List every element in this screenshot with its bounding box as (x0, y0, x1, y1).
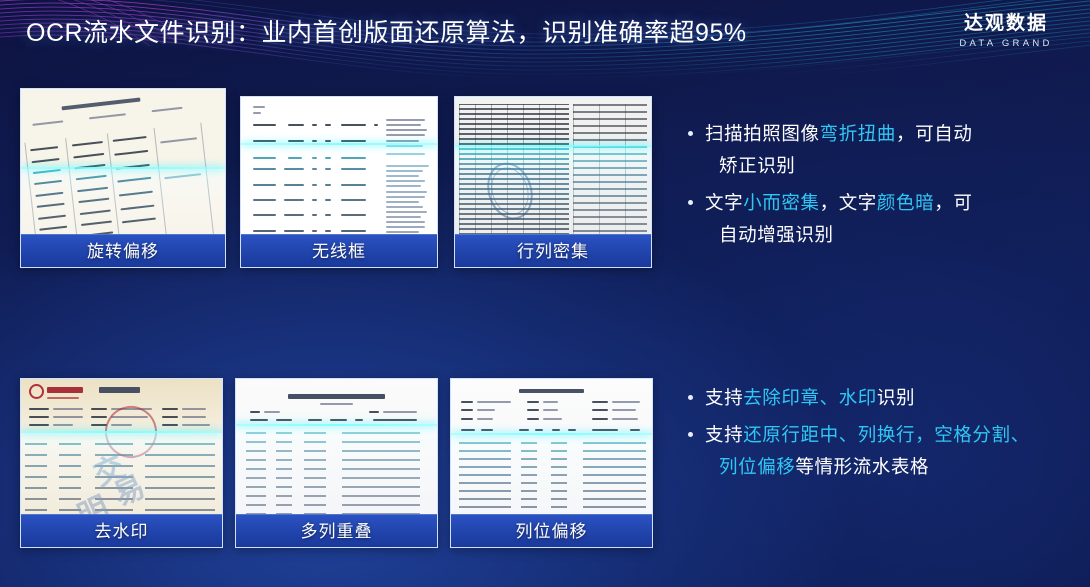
list-item: 文字小而密集，文字颜色暗，可 自动增强识别 (686, 187, 1066, 251)
bullet-line2: 列位偏移等情形流水表格 (705, 451, 1078, 483)
bullet-seg: 等情形流水表格 (795, 456, 929, 477)
list-item: 支持还原行距中、列换行，空格分割、 列位偏移等情形流水表格 (686, 419, 1078, 483)
slide-canvas: OCR流水文件识别：业内首创版面还原算法，识别准确率超95% 达观数据 DATA… (0, 0, 1090, 587)
sample-caption: 行列密集 (455, 234, 651, 267)
bullet-text: 扫描拍照图像弯折扭曲，可自动 矫正识别 (705, 118, 1066, 182)
bullet-seg: 文字 (705, 192, 743, 213)
bullet-seg: ，可自动 (896, 123, 972, 144)
sample-card-dense-rows[interactable]: 行列密集 (454, 96, 652, 268)
slide-header: OCR流水文件识别：业内首创版面还原算法，识别准确率超95% 达观数据 DATA… (0, 0, 1090, 68)
logo-chinese-name: 达观数据 (940, 12, 1072, 36)
sample-caption: 去水印 (21, 514, 222, 547)
bullet-seg-line2: 矫正识别 (705, 150, 1066, 182)
sample-caption: 多列重叠 (236, 514, 437, 547)
sample-card-watermark[interactable]: 交 易 明 去水印 (20, 378, 223, 548)
brand-logo: 达观数据 DATA GRAND (940, 12, 1072, 51)
bullet-seg: ，文字 (820, 192, 877, 213)
bullet-text: 支持去除印章、水印识别 (705, 382, 1078, 414)
sample-card-borderless[interactable]: 无线框 (240, 96, 438, 268)
list-item: 扫描拍照图像弯折扭曲，可自动 矫正识别 (686, 118, 1066, 182)
bullet-seg-highlight: 还原行距中、列换行，空格分割、 (743, 424, 1030, 445)
bullet-seg: ，可 (934, 192, 972, 213)
page-title: OCR流水文件识别：业内首创版面还原算法，识别准确率超95% (26, 16, 747, 50)
bullet-seg: 扫描拍照图像 (705, 123, 820, 144)
sample-caption: 列位偏移 (451, 514, 652, 547)
bullet-seg-line2: 自动增强识别 (705, 219, 1066, 251)
sample-card-rotated-offset[interactable]: 旋转偏移 (20, 88, 226, 268)
bullet-seg: 支持 (705, 387, 743, 408)
bullet-text: 支持还原行距中、列换行，空格分割、 列位偏移等情形流水表格 (705, 419, 1078, 483)
feature-list-top: 扫描拍照图像弯折扭曲，可自动 矫正识别 文字小而密集，文字颜色暗，可 自动增强识… (686, 118, 1066, 256)
bullet-seg-highlight: 颜色暗 (877, 192, 934, 213)
bullet-seg-highlight: 小而密集 (743, 192, 819, 213)
bullet-seg-highlight: 弯折扭曲 (820, 123, 896, 144)
logo-english-name: DATA GRAND (940, 37, 1072, 51)
bullet-seg: 支持 (705, 424, 743, 445)
sample-caption: 旋转偏移 (21, 234, 225, 267)
bullet-text: 文字小而密集，文字颜色暗，可 自动增强识别 (705, 187, 1066, 251)
feature-list-bottom: 支持去除印章、水印识别 支持还原行距中、列换行，空格分割、 列位偏移等情形流水表… (686, 382, 1078, 488)
bullet-seg-highlight: 去除印章、水印 (743, 387, 877, 408)
bullet-seg: 识别 (877, 387, 915, 408)
bullet-seg-highlight: 列位偏移 (719, 456, 795, 477)
sample-card-shifted-columns[interactable]: 列位偏移 (450, 378, 653, 548)
sample-caption: 无线框 (241, 234, 437, 267)
list-item: 支持去除印章、水印识别 (686, 382, 1078, 414)
sample-card-overlap-columns[interactable]: 多列重叠 (235, 378, 438, 548)
